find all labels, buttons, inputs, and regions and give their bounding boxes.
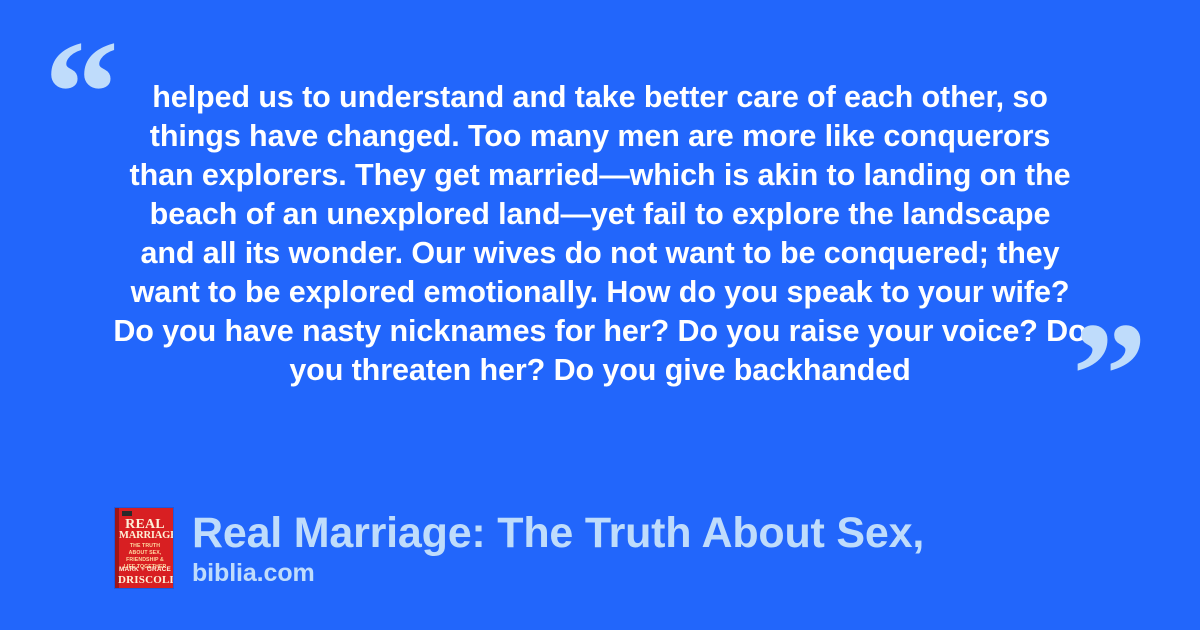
quote-text: helped us to understand and take better … <box>110 78 1090 390</box>
cover-surname: DRISCOLL <box>118 574 172 586</box>
quote-line: beach of an unexplored land—yet fail to … <box>110 195 1090 234</box>
cover-authors: MARK + GRACE <box>118 566 172 574</box>
site-name[interactable]: biblia.com <box>192 560 924 587</box>
quote-line: want to be explored emotionally. How do … <box>110 273 1090 312</box>
closing-quote-icon: ” <box>1072 300 1147 450</box>
quote-line: Do you have nasty nicknames for her? Do … <box>110 312 1090 351</box>
quote-line: you threaten her? Do you give backhanded <box>110 351 1090 390</box>
attribution: REAL MARRIAGE THE TRUTH ABOUT SEX, FRIEN… <box>115 508 924 588</box>
cover-badge-icon <box>122 511 132 516</box>
attribution-text: Real Marriage: The Truth About Sex, bibl… <box>192 508 924 587</box>
book-title[interactable]: Real Marriage: The Truth About Sex, <box>192 510 924 556</box>
quote-line: helped us to understand and take better … <box>110 78 1090 117</box>
opening-quote-icon: “ <box>44 18 119 168</box>
cover-title-line2: MARRIAGE <box>119 531 171 541</box>
quote-line: things have changed. Too many men are mo… <box>110 117 1090 156</box>
book-cover-thumbnail[interactable]: REAL MARRIAGE THE TRUTH ABOUT SEX, FRIEN… <box>115 508 173 588</box>
quote-line: and all its wonder. Our wives do not wan… <box>110 234 1090 273</box>
quote-line: than explorers. They get married—which i… <box>110 156 1090 195</box>
quote-share-card: “ helped us to understand and take bette… <box>0 0 1200 630</box>
